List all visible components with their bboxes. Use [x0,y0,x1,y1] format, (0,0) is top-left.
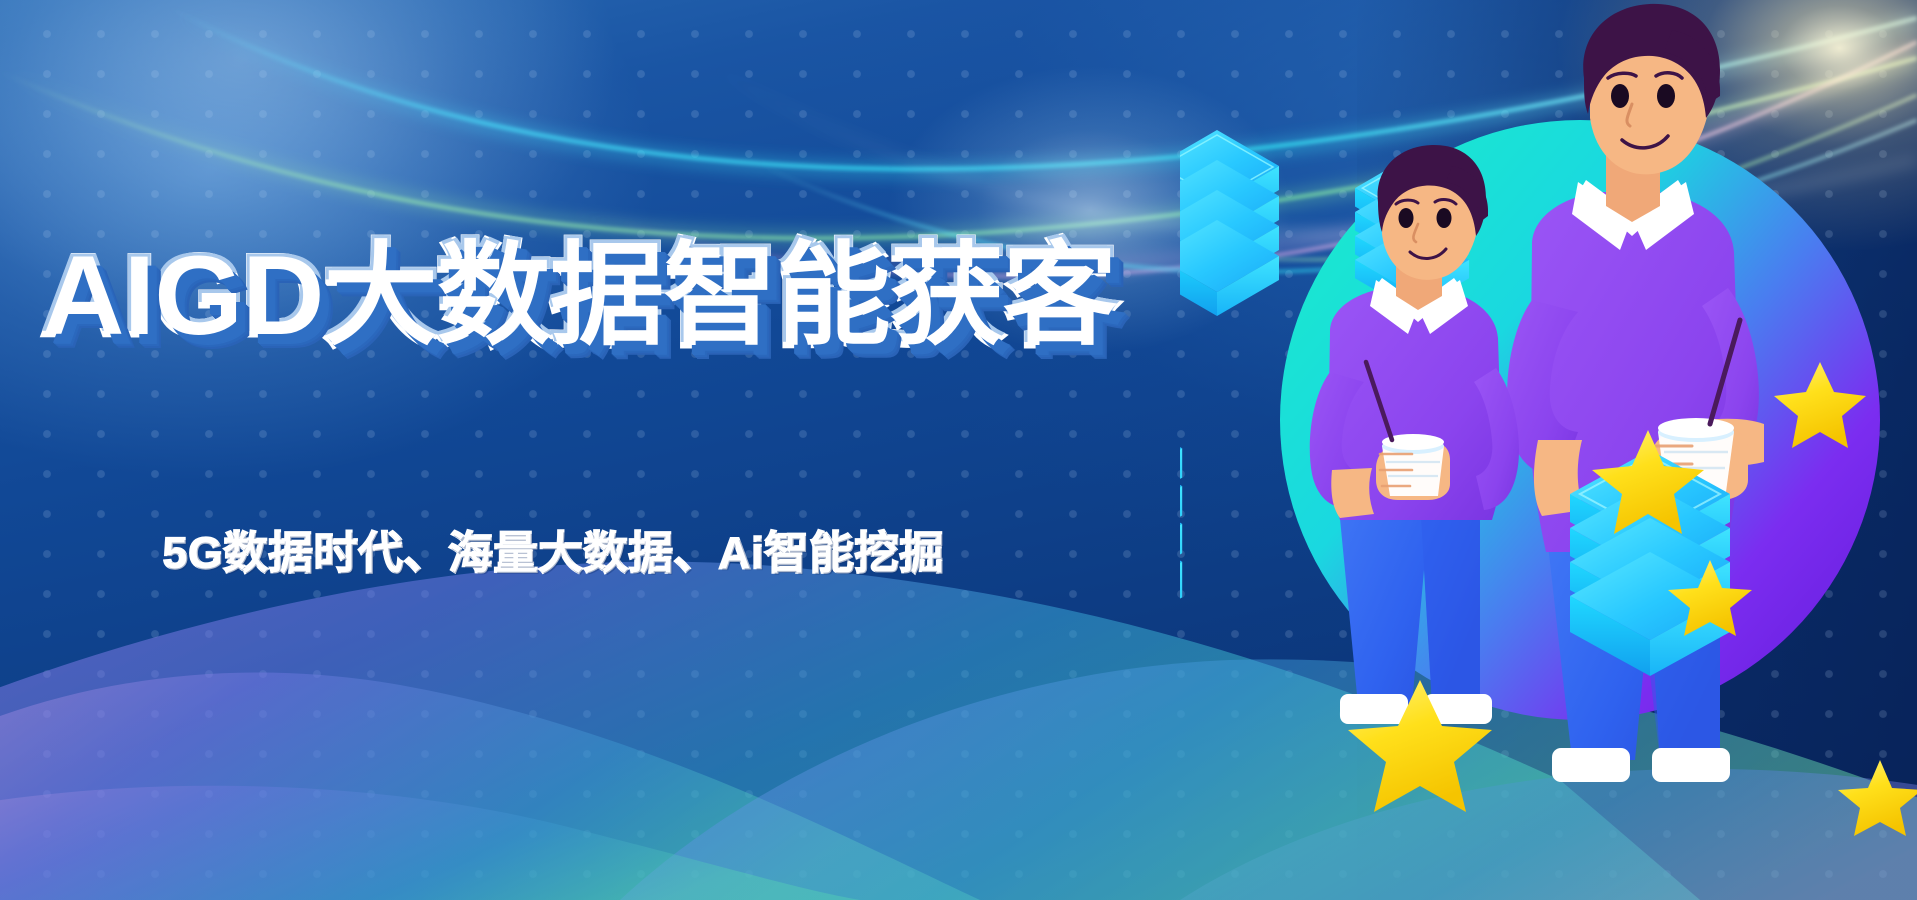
star-6 [1838,760,1917,836]
headline-block: AIGD大数据智能获客 [42,240,1272,370]
server-stack-left [1180,400,1182,646]
page-subtitle: 5G数据时代、海量大数据、Ai智能挖掘 [163,532,1163,576]
page-title: AIGD大数据智能获客 [42,240,1297,352]
characters-illustration [1180,0,1917,900]
subheadline-block: 5G数据时代、海量大数据、Ai智能挖掘 [163,532,1163,576]
promo-banner: AIGD大数据智能获客 5G数据时代、海量大数据、Ai智能挖掘 [0,0,1917,900]
